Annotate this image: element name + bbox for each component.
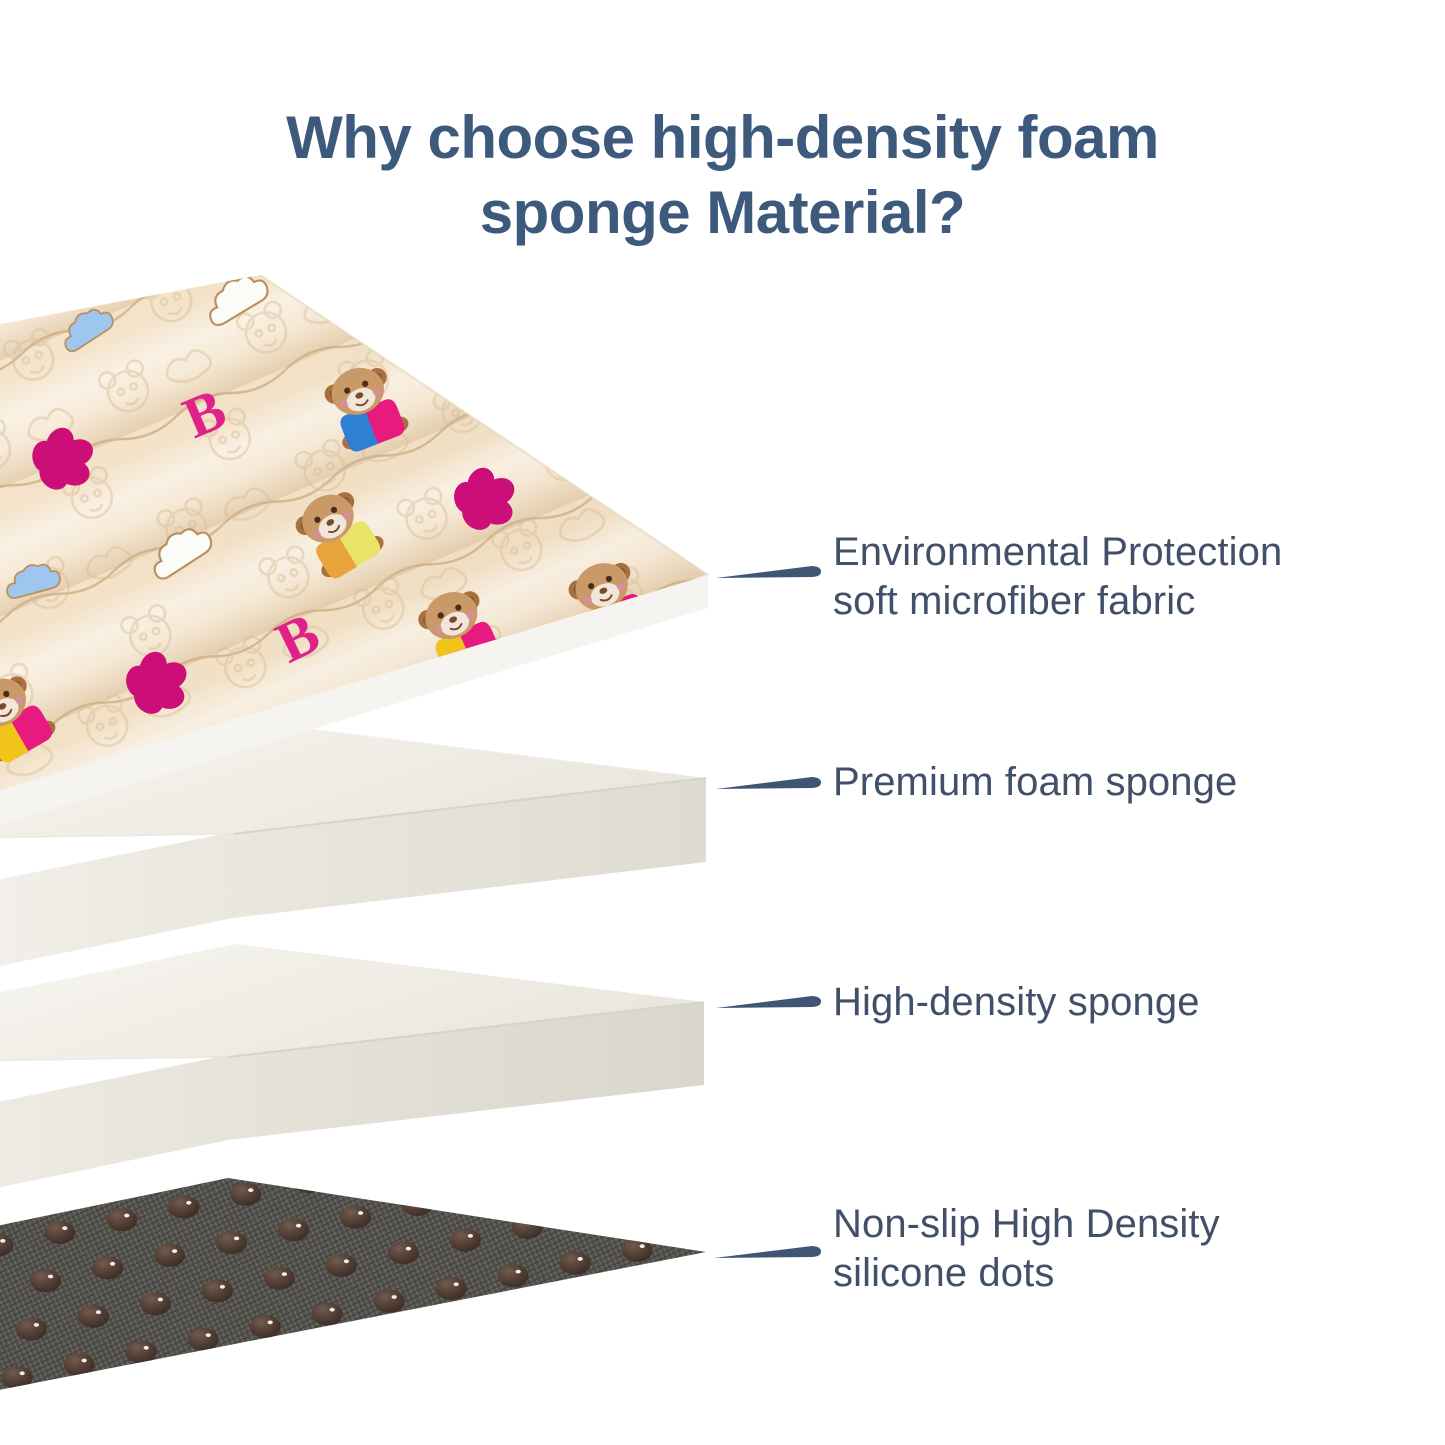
infographic-canvas: Why choose high-density foam sponge Mate… (0, 0, 1445, 1445)
leader-line-premium-foam-sponge (716, 777, 821, 789)
layer-label-high-density-sponge: High-density sponge (833, 978, 1200, 1027)
leader-line-microfiber-fabric (716, 566, 821, 578)
layer-silicone-dot-base (0, 1150, 748, 1445)
leader-line-high-density-sponge (716, 996, 821, 1008)
layer-label-premium-foam-sponge: Premium foam sponge (833, 758, 1237, 807)
leader-line-silicone-dot-base (714, 1246, 821, 1258)
layer-label-silicone-dot-base: Non-slip High Density silicone dots (833, 1200, 1220, 1298)
svg-text:B: B (593, 416, 657, 491)
exploded-layer-stack: B (0, 0, 1445, 1445)
layer-label-microfiber-fabric: Environmental Protection soft microfiber… (833, 528, 1282, 626)
leader-lines (714, 566, 821, 1258)
